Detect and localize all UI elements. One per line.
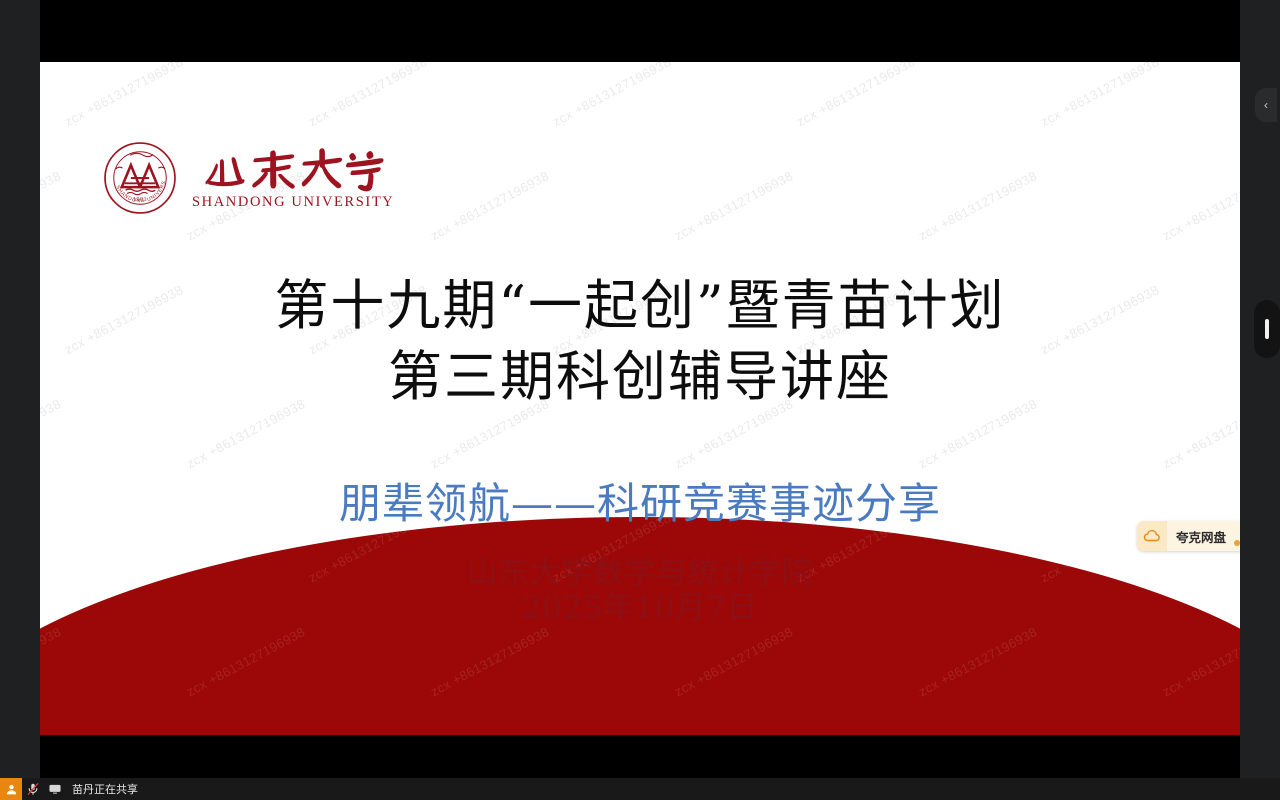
watermark-text: zcx +8613127196938 [916, 168, 1040, 243]
screen-share-icon[interactable] [44, 778, 66, 800]
slide-organization-block: 山东大学数学与统计学院 2025年10月7日 [40, 556, 1240, 627]
watermark-text: zcx +8613127196938 [428, 168, 552, 243]
university-seal-icon: 1901 SHANDONG UNIVERSITY [102, 140, 178, 216]
chinese-calligraphy-wordmark [201, 145, 385, 193]
watermark-text: zcx +8613127196938 [1160, 168, 1240, 243]
panel-resize-handle[interactable] [1254, 300, 1280, 358]
watermark-text: zcx +8613127196938 [40, 168, 64, 243]
red-band-decoration [40, 665, 1240, 735]
quark-netdisk-label: 夸克网盘 [1167, 527, 1234, 546]
organization-name: 山东大学数学与统计学院 [467, 555, 814, 591]
shared-slide: 1901 SHANDONG UNIVERSITY [40, 62, 1240, 735]
letterbox-top [40, 0, 1240, 62]
watermark-text: zcx +8613127196938 [794, 62, 918, 129]
watermark-text: zcx +8613127196938 [672, 168, 796, 243]
screen-root: 1901 SHANDONG UNIVERSITY [0, 0, 1280, 800]
handle-bar-icon [1265, 319, 1269, 339]
slide-title: 第十九期“一起创”暨青苗计划 第三期科创辅导讲座 [40, 270, 1240, 413]
cloud-icon [1137, 521, 1167, 551]
logo-wordmark: SHANDONG UNIVERSITY [192, 145, 394, 211]
taskbar: 苗丹正在共享 [0, 778, 1280, 800]
slide-title-line1: 第十九期“一起创”暨青苗计划 [274, 274, 1005, 337]
badge-dot-icon [1234, 540, 1240, 546]
slide-title-line2: 第三期科创辅导讲座 [40, 341, 1240, 412]
share-status-text: 苗丹正在共享 [72, 781, 138, 797]
participant-icon[interactable] [0, 778, 22, 800]
presentation-date: 2025年10月7日 [40, 591, 1240, 626]
slide-subtitle: 朋辈领航——科研竞赛事迹分享 [40, 470, 1240, 531]
quark-netdisk-badge[interactable]: 夸克网盘 [1137, 521, 1240, 551]
microphone-muted-icon[interactable] [22, 778, 44, 800]
letterbox-bottom [40, 735, 1240, 778]
watermark-text: zcx +8613127196938 [1038, 62, 1162, 129]
watermark-text: zcx +8613127196938 [62, 62, 186, 129]
watermark-text: zcx +8613127196938 [306, 62, 430, 129]
logo-english-name: SHANDONG UNIVERSITY [192, 194, 394, 211]
watermark-text: zcx +8613127196938 [550, 62, 674, 129]
shandong-university-logo: 1901 SHANDONG UNIVERSITY [102, 140, 394, 216]
collapse-panel-button[interactable]: ‹ [1255, 88, 1277, 122]
left-rail [0, 0, 40, 778]
